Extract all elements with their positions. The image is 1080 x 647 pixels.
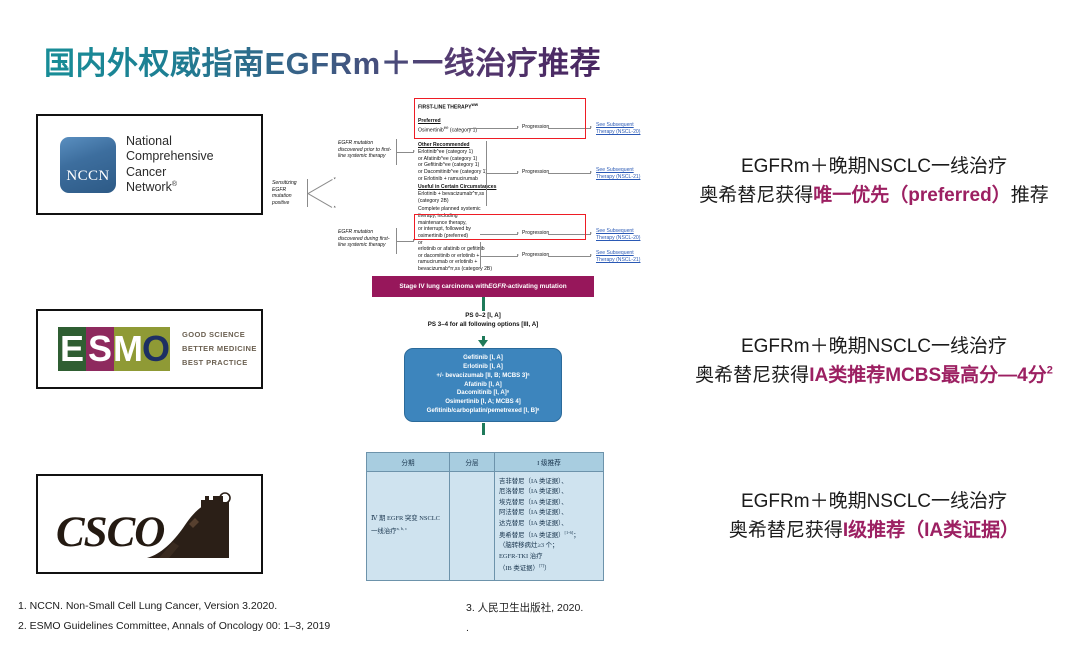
esmo-stem-1 (482, 297, 485, 311)
other-item-0: Erlotinib^ee (category 1) (418, 149, 487, 156)
alt-item-0: erlotinib or afatinib or gefitinib (418, 246, 492, 253)
branch-line-down (308, 193, 333, 208)
rec-7: EGFR-TKI 治疗 (499, 552, 599, 562)
esmo-tagline-2: BETTER MEDICINE (182, 342, 257, 356)
rec-5-wrap: 奥希替尼（IA 类证据）[1-6]； (499, 529, 599, 542)
link3-l2: Therapy (NSCL-20) (596, 235, 640, 242)
stmt2-line2: 奥希替尼获得IA类推荐MCBS最高分—4分2 (674, 361, 1074, 390)
link4-l1: See Subsequent (596, 250, 640, 257)
useful-circumstances-items: Erlotinib + bevacizumab^rr,ss (category … (418, 191, 484, 204)
stmt1-line1: EGFRm＋晚期NSCLC一线治疗 (674, 152, 1074, 181)
esmo-flowchart: Stage IV lung carcinoma with EGFR-activa… (372, 276, 594, 444)
stmt2-hl-text: IA类推荐MCBS最高分—4分 (809, 365, 1047, 386)
esmo-tagline-3: BEST PRACTICE (182, 356, 257, 370)
esmo-header-pre: Stage IV lung carcinoma with (399, 283, 488, 290)
csco-recommendation-table: 分期 分层 I 级推荐 Ⅳ 期 EGFR 突变 NSCLC 一线治疗a, b, … (366, 452, 604, 581)
table-header-row: 分期 分层 I 级推荐 (367, 453, 604, 472)
nccn-name-line-4: Network® (126, 180, 214, 195)
root-l4: positive (272, 200, 306, 207)
footnote-3: 3. 人民卫生出版社, 2020. (466, 600, 583, 615)
rec-3: 阿法替尼（IA 类证据）、 (499, 508, 599, 518)
esmo-arrow-down-icon (478, 340, 488, 347)
rec-8: （IB 类证据） (499, 565, 539, 572)
rec-sup-2: [7] (539, 563, 544, 568)
stmt3-highlight: I级推荐（IA类证据） (843, 520, 1019, 541)
pref-arrow-b (590, 126, 592, 128)
stmt3-line1: EGFRm＋晚期NSCLC一线治疗 (674, 487, 1074, 516)
cell-recommendation: 吉非替尼（IA 类证据）、 厄洛替尼（IA 类证据）、 埃克替尼（IA 类证据）… (495, 472, 604, 581)
rec-0: 吉非替尼（IA 类证据）、 (499, 477, 599, 487)
esmo-logo-frame: E S M O GOOD SCIENCE BETTER MEDICINE BES… (36, 309, 263, 389)
stmt1-pre: 奥希替尼获得 (699, 185, 813, 206)
esmo-letter-o: O (142, 327, 170, 371)
nccn-branch-upper: EGFR mutation discovered prior to first-… (338, 140, 394, 160)
nccn-name-network: Network (126, 180, 172, 194)
statement-nccn: EGFRm＋晚期NSCLC一线治疗 奥希替尼获得唯一优先（preferred）推… (674, 152, 1074, 211)
esmo-letter-e: E (58, 327, 86, 371)
stmt1-highlight: 唯一优先（preferred） (813, 185, 1010, 206)
stmt2-sup: 2 (1047, 365, 1053, 377)
ps-line-2: PS 3–4 for all following options [III, A… (372, 320, 594, 329)
esmo-wordmark-icon: E S M O (58, 327, 170, 371)
nccn-name-line-3: Cancer (126, 165, 214, 180)
rec-sup-1: [1-6] (565, 530, 574, 535)
lower-connector (397, 241, 414, 242)
link-subsequent-therapy-1[interactable]: See Subsequent Therapy (NSCL-20) (596, 122, 640, 135)
other-item-3: or Dacomitinib^ee (category 1) (418, 169, 487, 176)
other-arrow-b (590, 171, 592, 173)
other-line-b (548, 173, 591, 174)
esmo-option-6: Gefitinib/carboplatin/pemetrexed [I, B]ᵃ (405, 407, 561, 416)
useful-circumstances-label: Useful in Certain Circumstances (418, 184, 496, 191)
esmo-tagline-1: GOOD SCIENCE (182, 328, 257, 342)
other-recommended-label: Other Recommended (418, 142, 470, 149)
esmo-option-2: +/- bevacizumab [II, B; MCBS 3]ᵃ (405, 372, 561, 381)
red-highlight-box-osimertinib (414, 214, 586, 240)
link2-l1: See Subsequent (596, 167, 640, 174)
cell-stratum (450, 472, 495, 581)
alt-arrow-a (517, 254, 519, 256)
rec-5: 奥希替尼（IA 类证据） (499, 532, 565, 539)
complete-planned-label: Complete planned systemic (418, 206, 481, 213)
esmo-letter-m: M (114, 327, 142, 371)
nccn-name-line-2: Comprehensive (126, 149, 214, 164)
statement-csco: EGFRm＋晚期NSCLC一线治疗 奥希替尼获得I级推荐（IA类证据） (674, 487, 1074, 546)
link1-l2: Therapy (NSCL-20) (596, 129, 640, 136)
rec-6: （脑转移病灶≥3 个； (499, 541, 599, 551)
branch-arrow-down (334, 206, 337, 209)
esmo-stage-header: Stage IV lung carcinoma with EGFR-activa… (372, 276, 594, 297)
root-l2: EGFR (272, 187, 306, 194)
nccn-mark-label: NCCN (66, 168, 109, 185)
footnote-2: 2. ESMO Guidelines Committee, Annals of … (18, 620, 330, 632)
progression-2: Progression (522, 169, 549, 176)
esmo-header-post: -activating mutation (506, 283, 567, 290)
col-header-stratum: 分层 (450, 453, 495, 472)
statement-esmo: EGFRm＋晚期NSCLC一线治疗 奥希替尼获得IA类推荐MCBS最高分—4分2 (674, 332, 1074, 391)
esmo-option-1: Erlotinib [I, A] (405, 363, 561, 372)
root-l3: mutation (272, 193, 306, 200)
upper-connector-arrow (413, 150, 415, 152)
other-item-2: or Gefitinib^ee (category 1) (418, 162, 487, 169)
cell-stage: Ⅳ 期 EGFR 突变 NSCLC 一线治疗a, b, c (367, 472, 450, 581)
alt-item-2: ramucirumab or erlotinib + (418, 259, 492, 266)
complete-arrow-b (590, 232, 592, 234)
footnote-1: 1. NCCN. Non-Small Cell Lung Cancer, Ver… (18, 600, 277, 612)
other-item-1: or Afatinib^ee (category 1) (418, 156, 487, 163)
alt-line-a (481, 256, 518, 257)
stmt1-post: 推荐 (1011, 185, 1049, 206)
stmt2-line1: EGFRm＋晚期NSCLC一线治疗 (674, 332, 1074, 361)
table-row: Ⅳ 期 EGFR 突变 NSCLC 一线治疗a, b, c 吉非替尼（IA 类证… (367, 472, 604, 581)
esmo-treatment-options-box: Gefitinib [I, A] Erlotinib [I, A] +/- be… (404, 348, 562, 422)
link4-l2: Therapy (NSCL-21) (596, 257, 640, 264)
esmo-option-5: Osimertinib [I, A; MCBS 4] (405, 398, 561, 407)
csco-logo-frame: CSCO (36, 474, 263, 574)
upper-connector (397, 152, 414, 153)
nccn-root-label: Sensitizing EGFR mutation positive (272, 180, 306, 207)
rec-8-wrap: （IB 类证据）[7]） (499, 562, 599, 575)
rec-4: 达克替尼（IA 类证据）、 (499, 519, 599, 529)
useful-item-1: (category 2B) (418, 198, 484, 205)
useful-item-0: Erlotinib + bevacizumab^rr,ss (418, 191, 484, 198)
esmo-tagline: GOOD SCIENCE BETTER MEDICINE BEST PRACTI… (182, 328, 257, 371)
nccn-logo-frame: NCCN National Comprehensive Cancer Netwo… (36, 114, 263, 215)
nccn-branch-lower: EGFR mutation discovered during first-li… (338, 229, 396, 249)
great-wall-icon (139, 488, 235, 562)
stmt3-pre: 奥希替尼获得 (729, 520, 843, 541)
alt-item-3: bevacizumab^rr,ss (category 2B) (418, 266, 492, 273)
cell-stage-sup: a, b, c (397, 526, 407, 531)
rec-1: 厄洛替尼（IA 类证据）、 (499, 487, 599, 497)
esmo-header-gene: EGFR (488, 283, 506, 290)
stmt3-line2: 奥希替尼获得I级推荐（IA类证据） (674, 516, 1074, 545)
rec-2: 埃克替尼（IA 类证据）、 (499, 498, 599, 508)
red-highlight-box-preferred (414, 98, 586, 139)
stmt2-highlight: IA类推荐MCBS最高分—4分2 (809, 365, 1053, 386)
col-header-stage: 分期 (367, 453, 450, 472)
esmo-option-4: Dacomitinib [I, A]ᵃ (405, 389, 561, 398)
nccn-name-line-1: National (126, 134, 214, 149)
nccn-logo-text: National Comprehensive Cancer Network® (126, 134, 214, 195)
other-item-4: or Erlotinib + ramucirumab (418, 176, 487, 183)
other-arrow-a (517, 171, 519, 173)
nccn-flowchart: Sensitizing EGFR mutation positive EGFR … (272, 96, 670, 266)
root-l1: Sensitizing (272, 180, 306, 187)
link1-l1: See Subsequent (596, 122, 640, 129)
nccn-mark-icon: NCCN (60, 137, 116, 193)
esmo-option-0: Gefitinib [I, A] (405, 354, 561, 363)
slide-canvas: 国内外权威指南EGFRm＋一线治疗推荐 NCCN National Compre… (0, 0, 1080, 647)
col-header-recommendation: I 级推荐 (495, 453, 604, 472)
branch-line-up (308, 179, 333, 194)
complete-alternatives: erlotinib or afatinib or gefitinib or da… (418, 246, 492, 273)
footnote-4: . (466, 622, 469, 634)
other-recommended-items: Erlotinib^ee (category 1) or Afatinib^ee… (418, 149, 487, 183)
esmo-ps-criteria: PS 0–2 [I, A] PS 3–4 for all following o… (372, 311, 594, 330)
link-subsequent-therapy-3[interactable]: See Subsequent Therapy (NSCL-20) (596, 228, 640, 241)
progression-4: Progression (522, 252, 549, 259)
registered-mark: ® (172, 181, 177, 188)
stmt2-pre: 奥希替尼获得 (695, 365, 809, 386)
esmo-option-3: Afatinib [I, A] (405, 381, 561, 390)
ps-line-1: PS 0–2 [I, A] (372, 311, 594, 320)
stmt1-line2: 奥希替尼获得唯一优先（preferred）推荐 (674, 181, 1074, 210)
alt-arrow-b (590, 254, 592, 256)
link2-l2: Therapy (NSCL-21) (596, 174, 640, 181)
page-title: 国内外权威指南EGFRm＋一线治疗推荐 (44, 38, 601, 83)
branch-arrow-up (334, 177, 337, 180)
alt-line-b (548, 256, 591, 257)
esmo-stem-3 (482, 423, 485, 435)
link-subsequent-therapy-2[interactable]: See Subsequent Therapy (NSCL-21) (596, 167, 640, 180)
other-line-a (487, 173, 518, 174)
link3-l1: See Subsequent (596, 228, 640, 235)
esmo-letter-s: S (86, 327, 114, 371)
link-subsequent-therapy-4[interactable]: See Subsequent Therapy (NSCL-21) (596, 250, 640, 263)
